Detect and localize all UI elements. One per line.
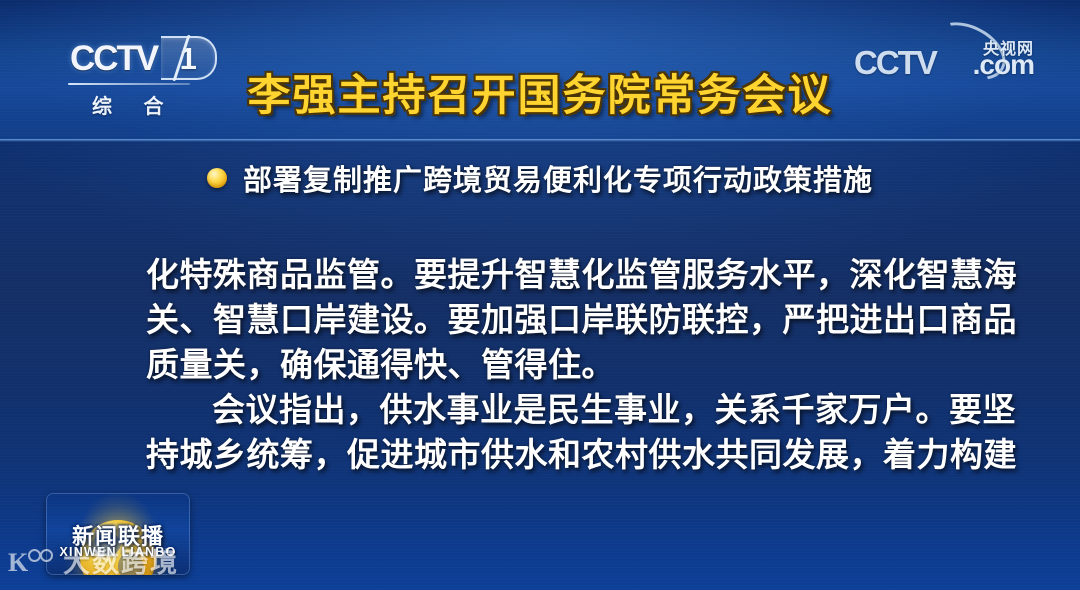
body-text-block: 化特殊商品监管。要提升智慧化监管服务水平，深化智慧海 关、智慧口岸建设。要加强口…: [146, 252, 946, 477]
body-line: 关、智慧口岸建设。要加强口岸联防联控，严把进出口商品: [146, 297, 946, 342]
body-line: 会议指出，供水事业是民生事业，关系千家万户。要坚: [146, 387, 946, 432]
watermark-mark-letter: K: [8, 550, 28, 576]
subtitle-row: 部署复制推广跨境贸易便利化专项行动政策措施: [0, 157, 1080, 199]
bullet-dot-icon: [207, 168, 227, 188]
watermark-circle-icon: [40, 549, 53, 562]
header-divider: [0, 139, 1080, 142]
headline-title: 李强主持召开国务院常务会议: [0, 72, 1080, 121]
cctv1-wordmark: CCTV: [70, 41, 157, 76]
watermark: K 大数跨境: [8, 548, 179, 578]
subtitle-text: 部署复制推广跨境贸易便利化专项行动政策措施: [243, 157, 873, 199]
watermark-logo-icon: K: [8, 548, 54, 578]
watermark-text: 大数跨境: [63, 550, 179, 577]
body-line: 持城乡统筹，促进城市供水和农村供水共同发展，着力构建: [146, 432, 946, 477]
body-line: 化特殊商品监管。要提升智慧化监管服务水平，深化智慧海: [146, 252, 946, 297]
body-line: 质量关，确保通得快、管得住。: [146, 342, 946, 387]
broadcast-frame: CCTV 1 综 合 CCTV 央视网 .com 李强主持召开国务院常务会议 部…: [0, 0, 1080, 590]
